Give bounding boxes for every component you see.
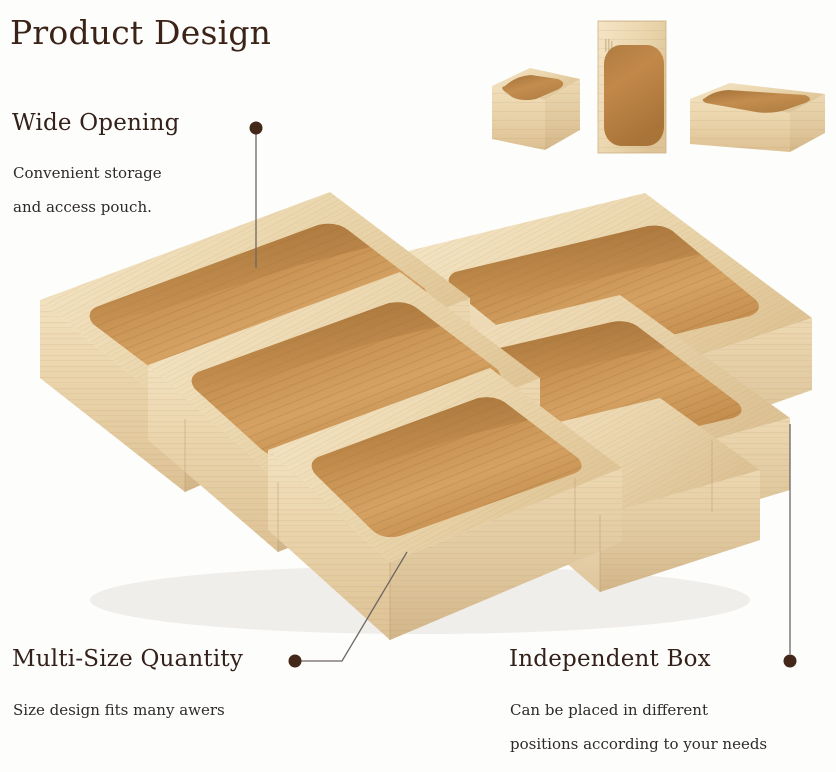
product-design-infographic: Product Design Wide Opening Convenient s…	[0, 0, 836, 772]
feature-body-independent-box-line1: Can be placed in different	[510, 695, 708, 725]
feature-body-independent-box-line2: positions according to your needs	[510, 729, 767, 759]
thumb-top-view-box	[598, 21, 666, 153]
thumb-small-box	[492, 68, 580, 150]
page-title: Product Design	[10, 13, 271, 52]
thumb-wide-box	[690, 83, 825, 152]
feature-body-wide-opening-line2: and access pouch.	[13, 192, 152, 222]
feature-body-multi-size-line1: Size design fits many awers	[13, 695, 225, 725]
feature-heading-independent-box: Independent Box	[509, 646, 711, 672]
feature-body-wide-opening-line1: Convenient storage	[13, 158, 162, 188]
feature-heading-multi-size: Multi-Size Quantity	[12, 646, 243, 672]
feature-heading-wide-opening: Wide Opening	[12, 110, 180, 136]
